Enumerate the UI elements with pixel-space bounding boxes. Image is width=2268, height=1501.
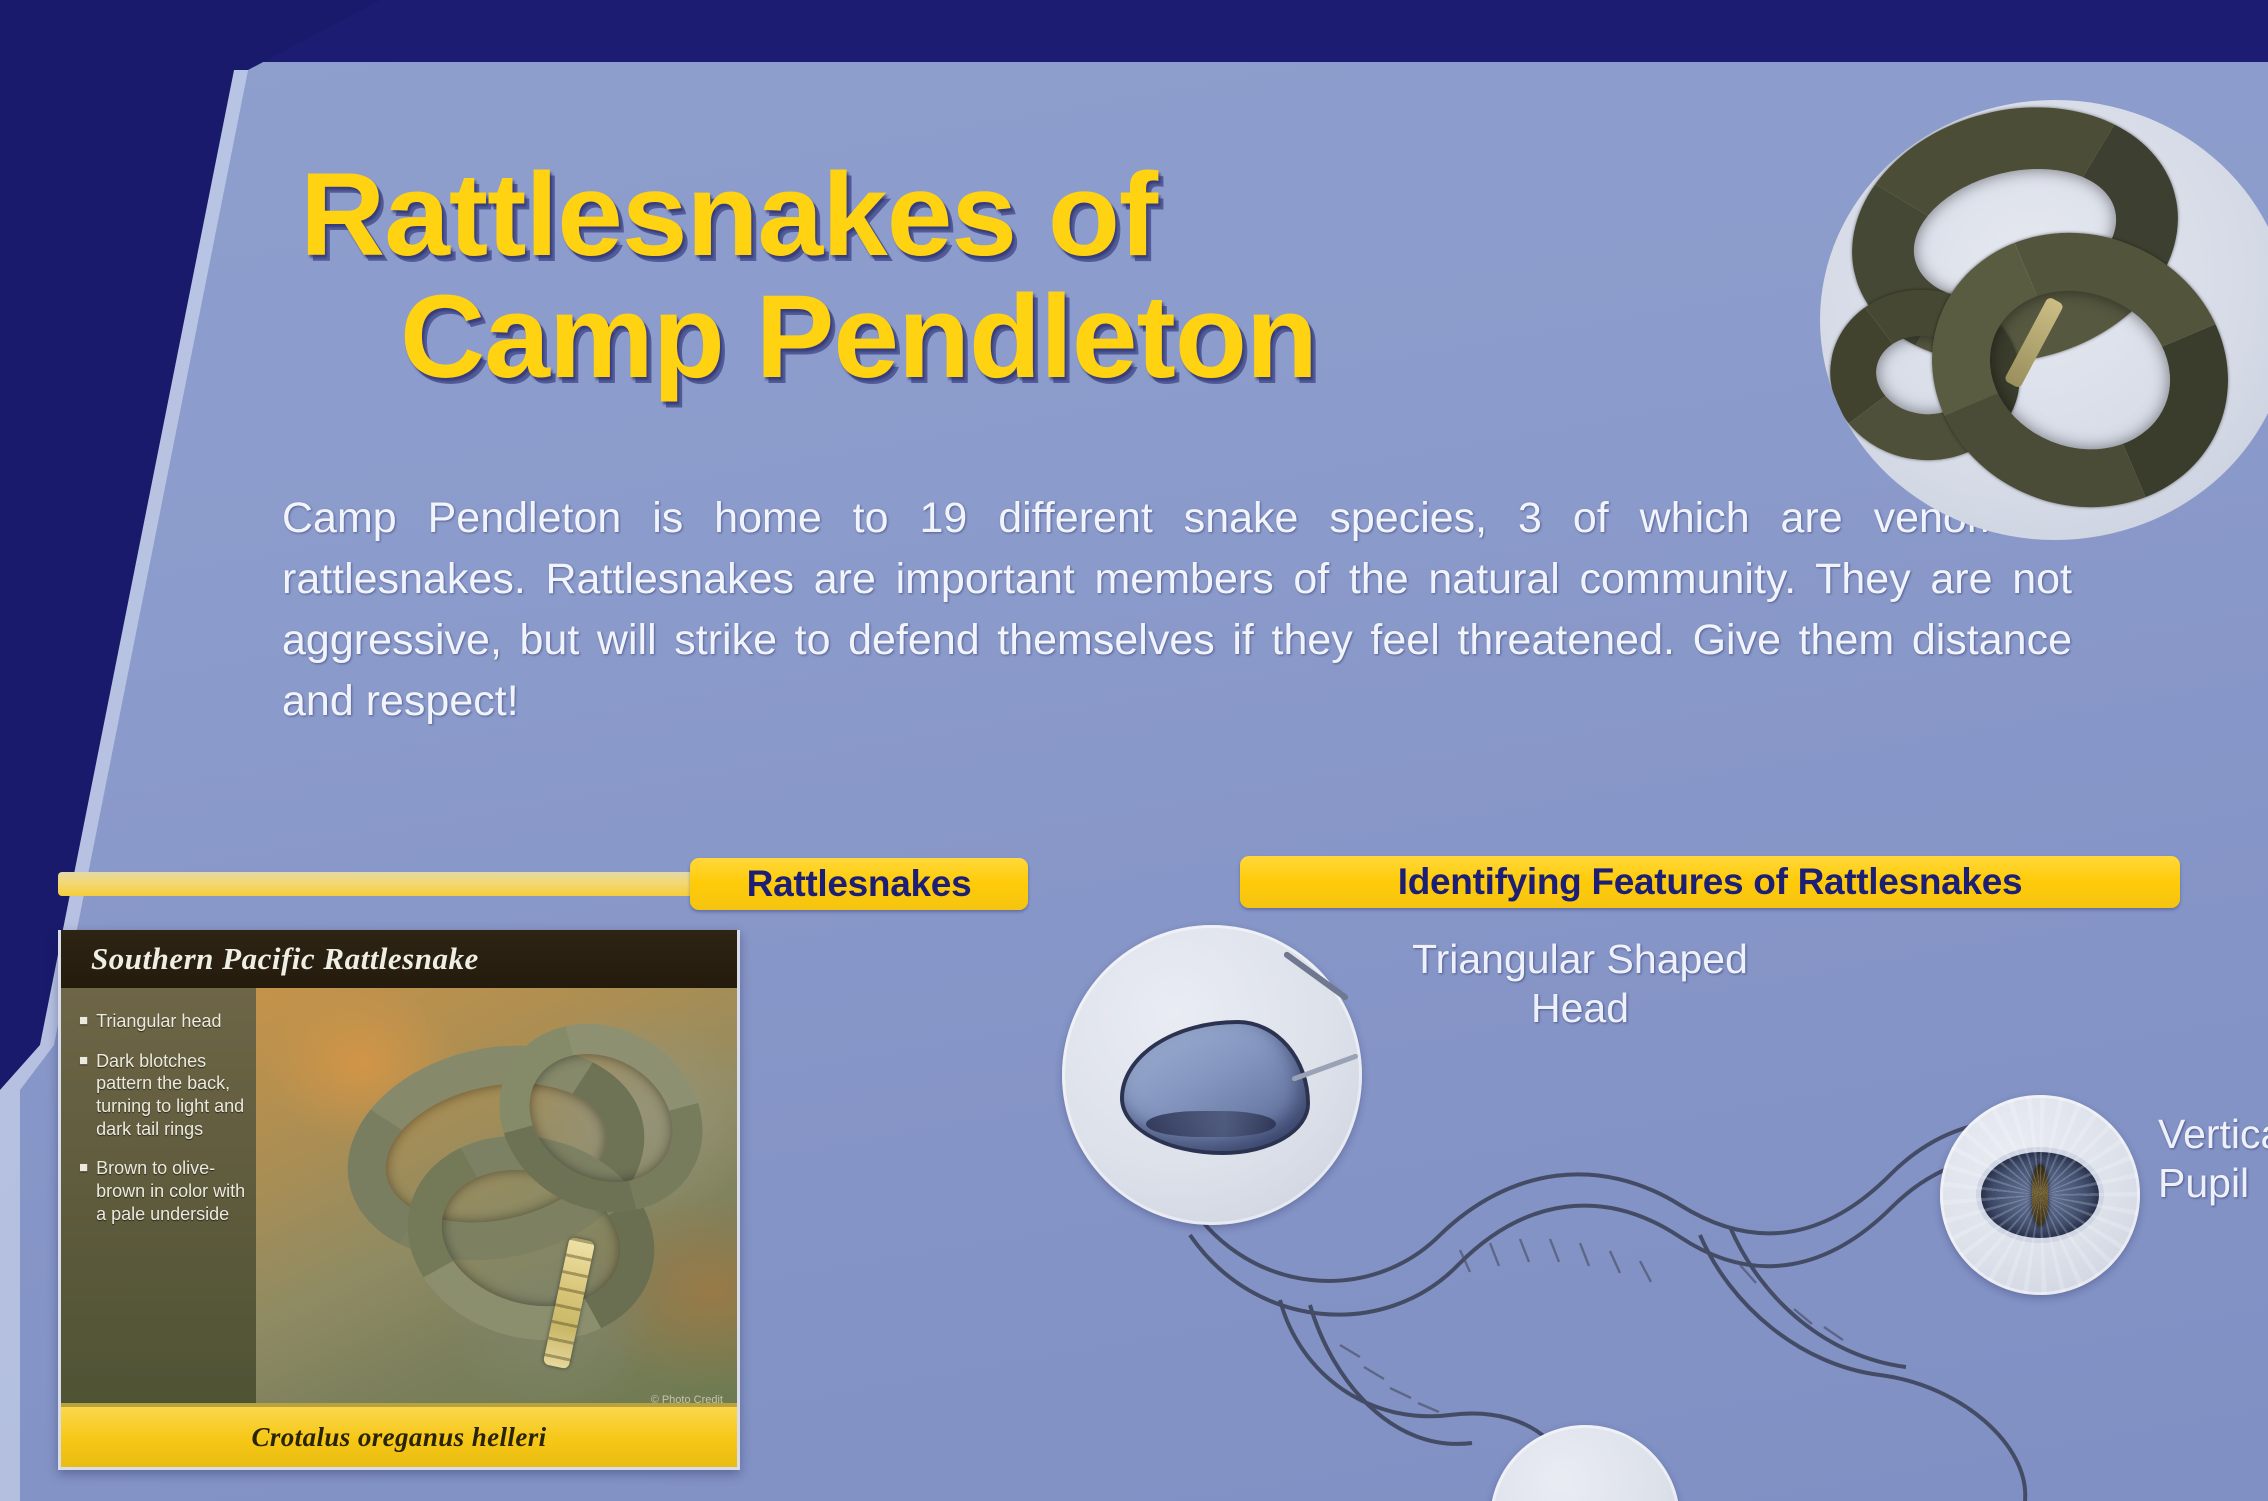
intro-paragraph: Camp Pendleton is home to 19 different s… [282,488,2072,732]
triangular-head-magnifier [1062,925,1362,1225]
species-scientific-name: Crotalus oreganus helleri [61,1407,737,1467]
label-line-1: Triangular Shaped [1412,936,1748,982]
label-line-2: Head [1531,985,1629,1031]
species-card-body: ■ Triangular head ■ Dark blotches patter… [61,988,737,1410]
species-feature-list: ■ Triangular head ■ Dark blotches patter… [61,988,256,1410]
snake-head-icon [1120,1020,1310,1155]
section-badge-rattlesnakes: Rattlesnakes [690,858,1028,910]
species-card-title: Southern Pacific Rattlesnake [61,930,737,988]
title-line-2: Camp Pendleton [300,277,1620,399]
section-badge-identifying-features: Identifying Features of Rattlesnakes [1240,856,2180,908]
title-line-1: Rattlesnakes of [300,149,1157,281]
coiled-rattlesnake-photo [1820,100,2268,540]
list-item-label: Brown to olive-brown in color with a pal… [96,1157,246,1225]
species-card-southern-pacific[interactable]: Southern Pacific Rattlesnake ■ Triangula… [58,930,740,1470]
scale-texture [1940,1095,2140,1295]
label-line-1: Vertical [2158,1111,2268,1157]
identifying-features-diagram: Triangular Shaped Head Vertical Pupil [1040,905,2268,1501]
bullet-dot-icon: ■ [79,1010,88,1033]
poster-root: Rattlesnakes of Camp Pendleton Camp Pend… [0,0,2268,1501]
species-photo: © Photo Credit [256,988,737,1410]
list-item: ■ Brown to olive-brown in color with a p… [79,1157,246,1225]
rattle-magnifier [1490,1425,1680,1501]
label-line-2: Pupil [2158,1160,2249,1206]
hero-coiled-rattlesnake [1820,100,2268,540]
coiled-snake-illustration [256,988,737,1410]
vertical-pupil-magnifier [1940,1095,2140,1295]
yellow-divider-rule [58,872,698,896]
page-title: Rattlesnakes of Camp Pendleton [300,155,1620,398]
label-triangular-shaped-head: Triangular Shaped Head [1370,935,1790,1033]
top-navy-strip [248,0,2268,62]
list-item-label: Dark blotches pattern the back, turning … [96,1050,246,1141]
list-item: ■ Dark blotches pattern the back, turnin… [79,1050,246,1141]
list-item: ■ Triangular head [79,1010,246,1033]
bullet-dot-icon: ■ [79,1157,88,1225]
head-pointer-line [1283,951,1350,1002]
list-item-label: Triangular head [96,1010,221,1033]
label-vertical-pupil: Vertical Pupil [2158,1110,2268,1208]
bullet-dot-icon: ■ [79,1050,88,1141]
